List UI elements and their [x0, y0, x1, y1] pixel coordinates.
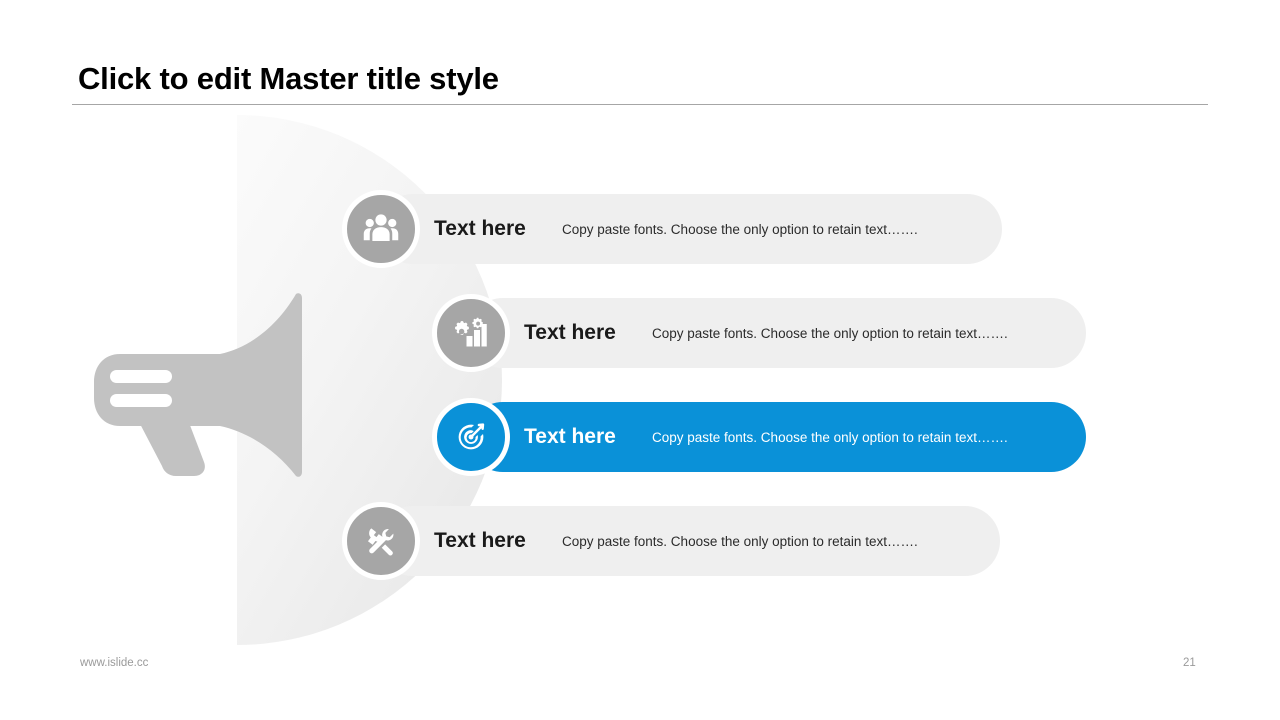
title-divider: [72, 104, 1208, 105]
hammer-wrench-icon: [342, 502, 420, 580]
target-arrow-icon: [432, 398, 510, 476]
list-item[interactable]: Text here Copy paste fonts. Choose the o…: [342, 194, 1002, 264]
megaphone-icon: [80, 288, 320, 480]
footer-url: www.islide.cc: [80, 657, 148, 669]
row-description: Copy paste fonts. Choose the only option…: [652, 298, 1008, 368]
row-description: Copy paste fonts. Choose the only option…: [562, 506, 918, 576]
bar-chart-gears-icon: [432, 294, 510, 372]
list-item[interactable]: Text here Copy paste fonts. Choose the o…: [342, 506, 1002, 576]
row-title: Text here: [434, 194, 526, 264]
row-description: Copy paste fonts. Choose the only option…: [562, 194, 918, 264]
row-title: Text here: [524, 402, 616, 472]
list-item[interactable]: Text here Copy paste fonts. Choose the o…: [432, 402, 1092, 472]
row-description: Copy paste fonts. Choose the only option…: [652, 402, 1008, 472]
people-group-icon: [342, 190, 420, 268]
page-title: Click to edit Master title style: [78, 61, 499, 97]
row-title: Text here: [524, 298, 616, 368]
row-title: Text here: [434, 506, 526, 576]
list-item[interactable]: Text here Copy paste fonts. Choose the o…: [432, 298, 1092, 368]
page-number: 21: [1183, 657, 1196, 669]
